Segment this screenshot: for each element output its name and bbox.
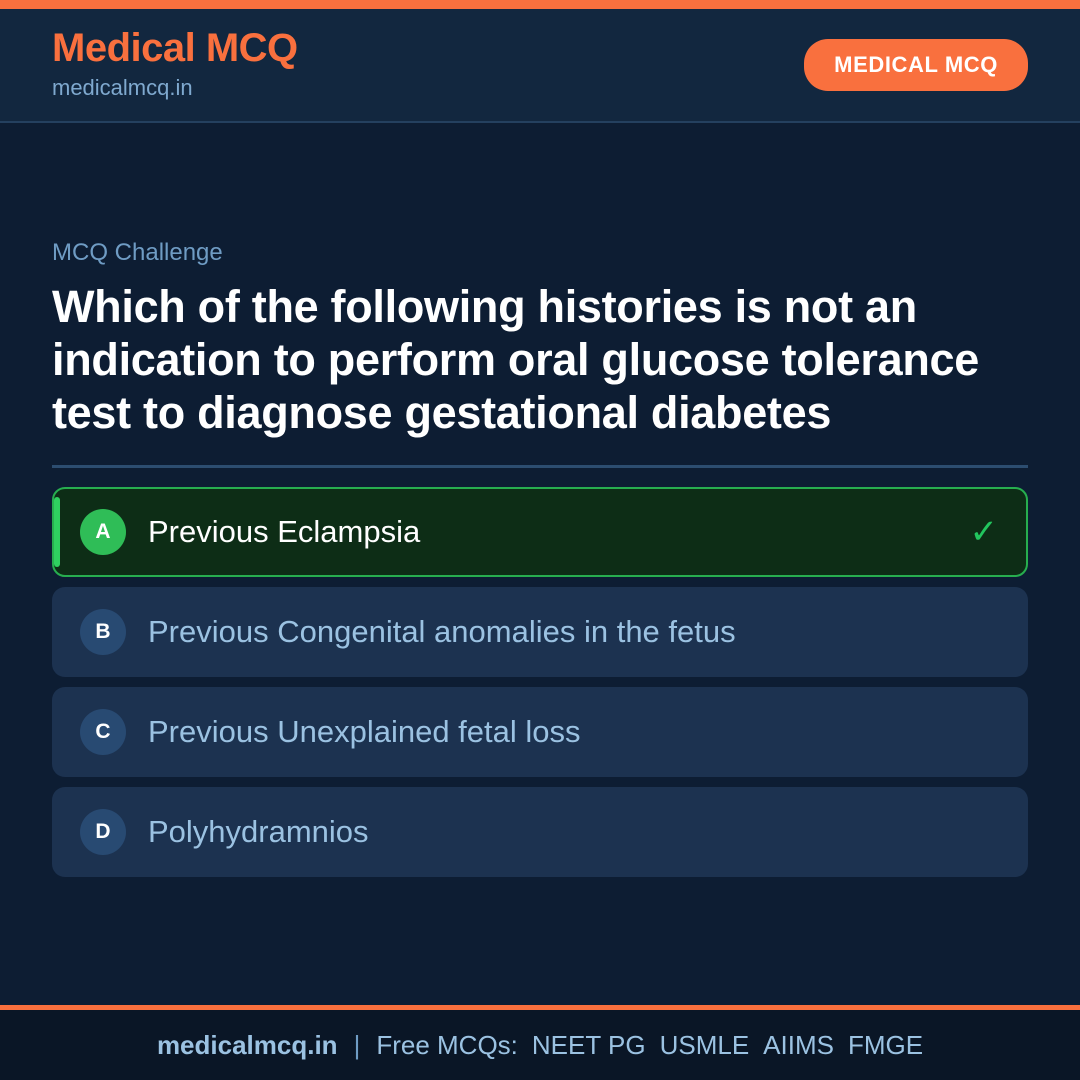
option-b[interactable]: B Previous Congenital anomalies in the f… [52,587,1028,677]
option-letter-a: A [80,509,126,555]
option-text-c: Previous Unexplained fetal loss [148,713,958,750]
footer-exam-neet-pg: NEET PG [518,1030,646,1061]
option-d[interactable]: D Polyhydramnios ✓ [52,787,1028,877]
kicker-label: MCQ Challenge [52,239,1028,268]
footer-exam-usmle: USMLE [646,1030,750,1061]
footer-exams-label: Free MCQs: [376,1030,518,1061]
question-divider [52,465,1028,468]
option-letter-b: B [80,609,126,655]
header-badge: MEDICAL MCQ [804,39,1028,91]
check-icon: ✓ [970,515,999,549]
option-c[interactable]: C Previous Unexplained fetal loss ✓ [52,687,1028,777]
brand-block: Medical MCQ medicalmcq.in [52,27,298,104]
mcq-card: Medical MCQ medicalmcq.in MEDICAL MCQ MC… [0,0,1080,1080]
option-text-a: Previous Eclampsia [148,513,956,550]
footer-exam-aiims: AIIMS [749,1030,834,1061]
option-text-b: Previous Congenital anomalies in the fet… [148,613,958,650]
brand-subtitle: medicalmcq.in [52,71,298,104]
footer-site-link[interactable]: medicalmcq.in [157,1030,338,1061]
brand-title: Medical MCQ [52,27,298,69]
main-content: MCQ Challenge Which of the following his… [0,123,1080,1005]
header: Medical MCQ medicalmcq.in MEDICAL MCQ [0,9,1080,123]
option-a[interactable]: A Previous Eclampsia ✓ [52,487,1028,577]
footer-separator: | [338,1030,377,1061]
footer: medicalmcq.in | Free MCQs: NEET PG USMLE… [0,1010,1080,1080]
option-letter-c: C [80,709,126,755]
question-text: Which of the following histories is not … [52,280,1028,439]
option-text-d: Polyhydramnios [148,813,958,850]
footer-exam-fmge: FMGE [834,1030,923,1061]
option-letter-d: D [80,809,126,855]
top-accent-bar [0,0,1080,9]
options-list: A Previous Eclampsia ✓ B Previous Congen… [52,487,1028,877]
